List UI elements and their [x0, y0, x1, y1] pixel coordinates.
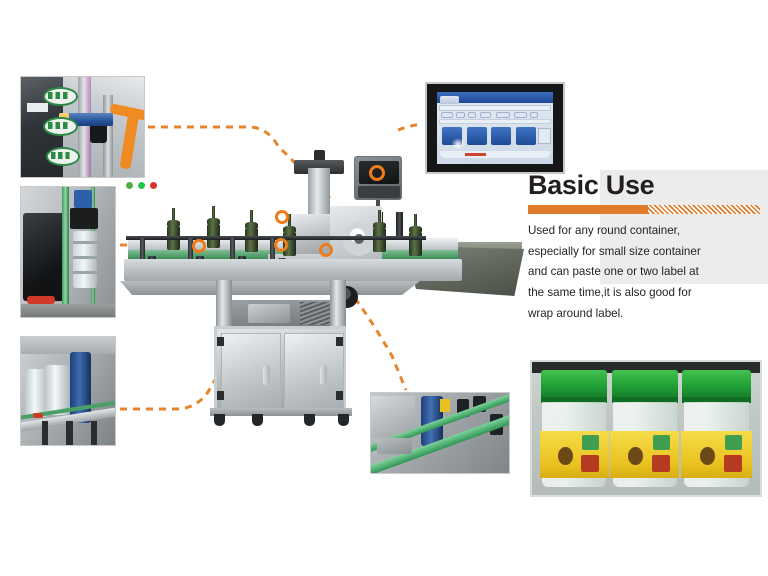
inset-photo-conveyor [20, 336, 116, 446]
description-line: and can paste one or two label at [528, 262, 764, 283]
machine-hmi-control-box [354, 156, 402, 200]
accent-rule [528, 205, 760, 214]
machine-cabinet [214, 326, 346, 412]
accent-rule-solid [528, 205, 648, 214]
accent-rule-hatched [648, 205, 760, 214]
description-line: the same time,it is also good for [528, 283, 764, 304]
description-line: Used for any round container, [528, 221, 764, 242]
hmi-ring-marker [369, 165, 385, 181]
callout-marker-4 [319, 243, 333, 257]
description-text: Used for any round container, especially… [528, 221, 764, 324]
basic-use-panel: Basic Use Used for any round container, … [528, 168, 768, 328]
cabinet-handle [320, 365, 327, 385]
cabinet-handle [263, 365, 270, 385]
callout-marker-3 [275, 210, 289, 224]
description-line: wrap around label. [528, 304, 764, 325]
inset-photo-labeled-jars [530, 360, 762, 497]
description-line: especially for small size container [528, 242, 764, 263]
page-title: Basic Use [528, 168, 768, 199]
slide-canvas: Basic Use Used for any round container, … [0, 0, 768, 576]
inset-photo-interior [20, 186, 116, 318]
callout-marker-1 [192, 239, 206, 253]
main-machine-photo [118, 150, 518, 430]
callout-marker-2 [274, 238, 288, 252]
